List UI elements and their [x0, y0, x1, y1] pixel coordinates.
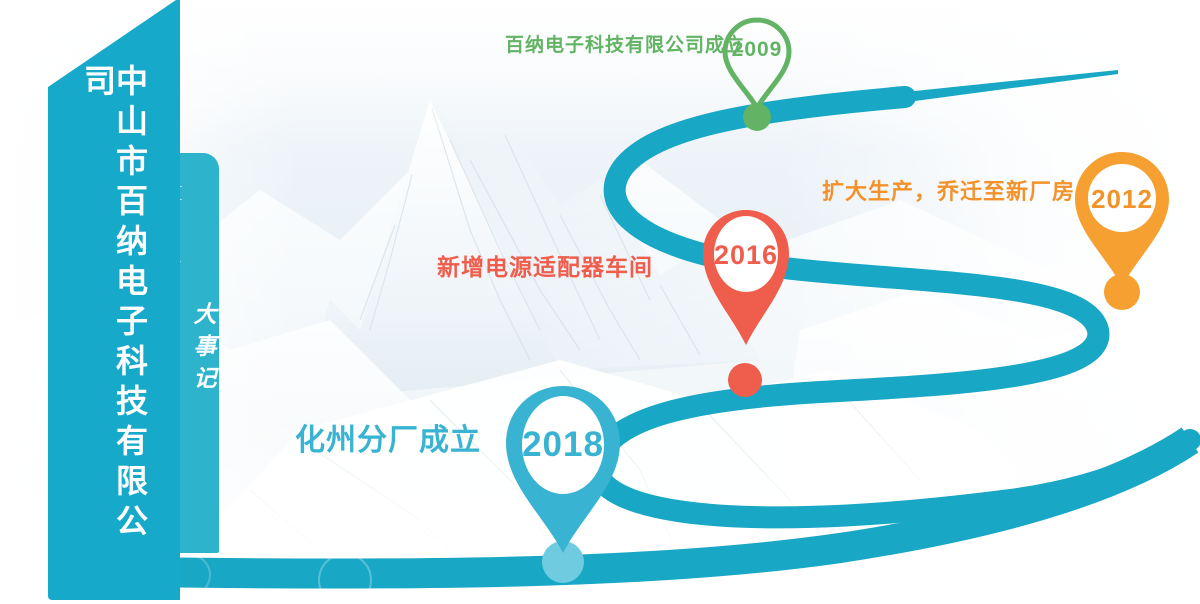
node-dot-2016	[728, 363, 762, 397]
company-name-block: 中山市百纳电子科技有限公司	[48, 64, 180, 564]
timeline-infographic: 百纳电子科技有限公司成立 2009 扩大生产，乔迁至新厂房 2012 新增电源适…	[0, 0, 1200, 604]
section-title-cn: 大事记	[185, 181, 219, 518]
pin-marker-2009[interactable]: 2009	[721, 16, 793, 112]
pin-marker-2016[interactable]: 2016	[701, 208, 791, 348]
pin-marker-2018[interactable]: 2018	[504, 384, 622, 556]
pin-marker-2012[interactable]: 2012	[1073, 150, 1171, 290]
event-label-2016: 新增电源适配器车间	[437, 248, 653, 282]
company-name: 中山市百纳电子科技有限公司	[82, 64, 146, 564]
event-label-2009: 百纳电子科技有限公司成立	[505, 30, 745, 57]
event-label-2018: 化州分厂成立	[295, 415, 481, 459]
event-label-2012: 扩大生产，乔迁至新厂房	[822, 174, 1075, 206]
